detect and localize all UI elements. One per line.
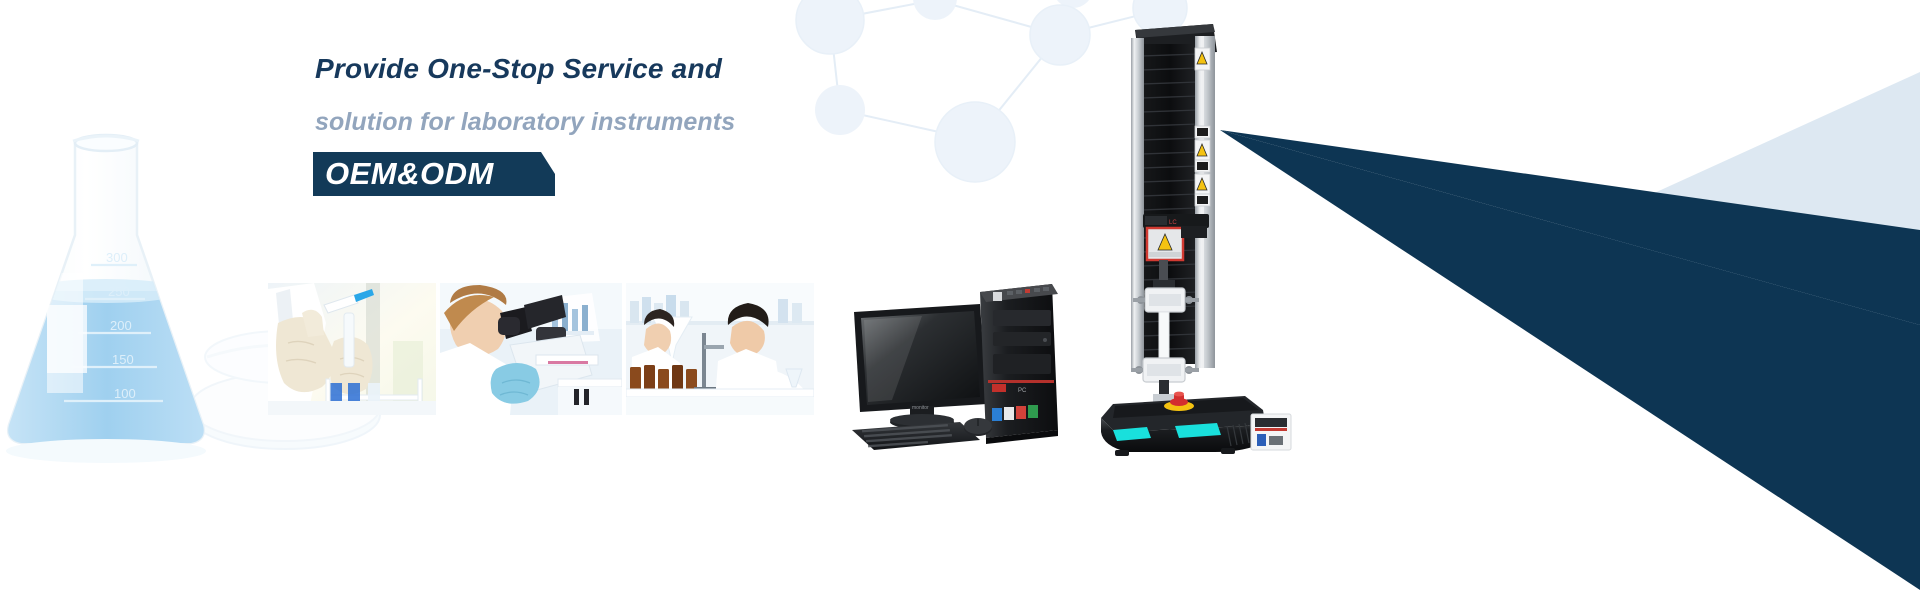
flask-grad-250: 250 <box>108 284 130 299</box>
badge-label: OEM&ODM <box>313 152 508 196</box>
base-unit <box>1101 392 1291 456</box>
promo-banner: 300 250 200 150 100 Provide One-Stop Ser… <box>0 0 1920 597</box>
column <box>1141 44 1199 364</box>
light-blue-arrow-shape <box>1360 0 1920 480</box>
flask-grad-150: 150 <box>112 352 134 367</box>
oem-odm-badge: OEM&ODM <box>313 152 508 196</box>
flask-grad-300: 300 <box>106 250 128 265</box>
flask-grad-200: 200 <box>110 318 132 333</box>
photo-lab-bench <box>626 283 814 415</box>
subheadline: solution for laboratory instruments <box>315 110 1033 135</box>
tower: PC <box>980 284 1058 444</box>
monitor: monitor <box>854 304 987 429</box>
universal-tensile-testing-machine: LC <box>1095 18 1295 458</box>
flask-grad-100: 100 <box>114 386 136 401</box>
photo-pipetting <box>268 283 436 415</box>
keyboard <box>852 422 980 450</box>
headline: Provide One-Stop Service and <box>315 55 1033 83</box>
svg-text:monitor: monitor <box>912 405 929 411</box>
photo-microscope <box>440 283 622 415</box>
navy-arrow-shape <box>1220 130 1920 597</box>
desktop-computer: monitor PC <box>852 280 1092 455</box>
headline-text-block: Provide One-Stop Service and solution fo… <box>313 55 1033 196</box>
photo-strip <box>268 283 814 415</box>
svg-text:PC: PC <box>1018 388 1027 394</box>
mouse <box>964 418 992 436</box>
test-specimen <box>1159 312 1169 360</box>
svg-text:LC: LC <box>1169 220 1177 226</box>
